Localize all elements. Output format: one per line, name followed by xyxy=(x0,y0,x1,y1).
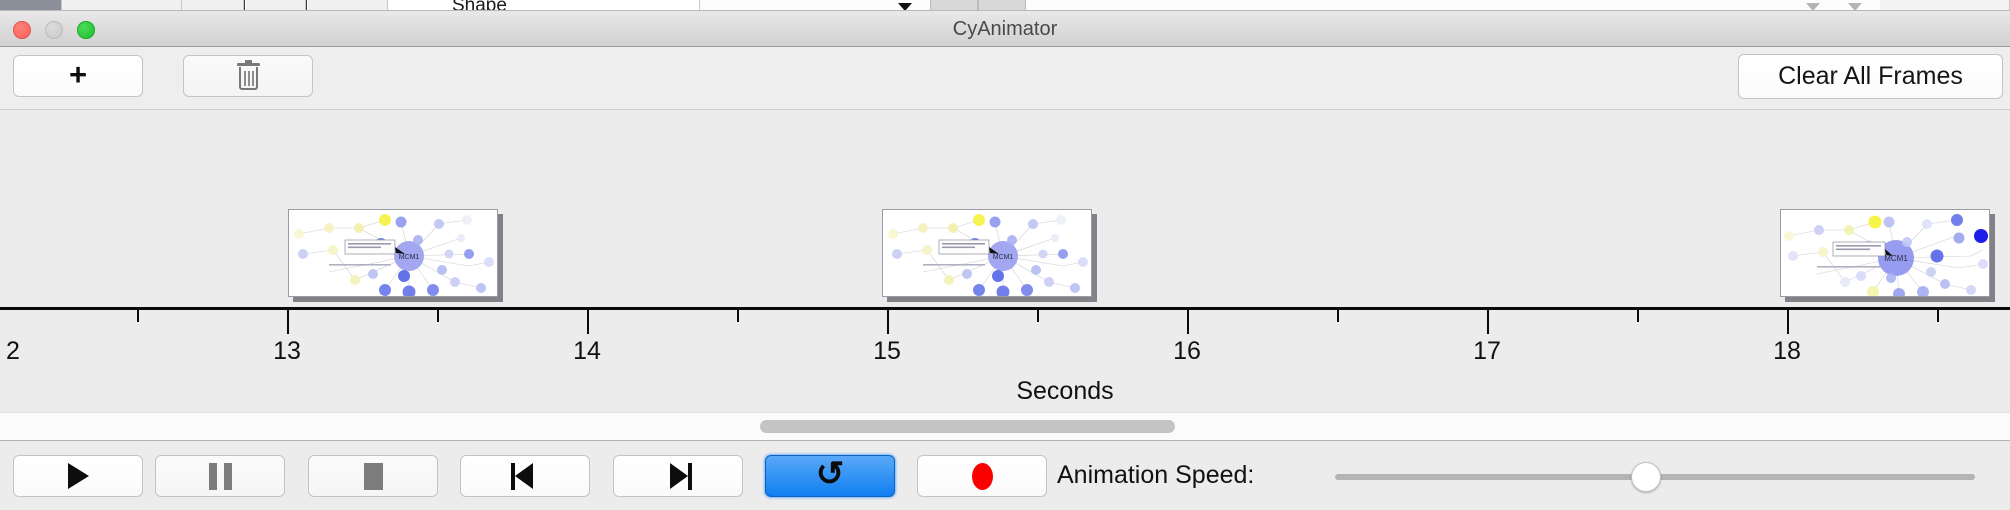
axis-minor-tick xyxy=(137,310,139,322)
timeline-frame-thumbnail[interactable]: MCM1 xyxy=(882,209,1092,297)
bg-tab xyxy=(978,0,1026,11)
axis-major-tick xyxy=(1787,310,1789,334)
scrollbar-thumb[interactable] xyxy=(760,420,1175,433)
bg-segment xyxy=(1880,0,2010,11)
delete-frame-button[interactable] xyxy=(183,55,313,97)
animation-speed-label: Animation Speed: xyxy=(1057,461,1254,490)
pause-button[interactable] xyxy=(155,455,285,497)
bg-segment xyxy=(390,0,700,11)
record-button[interactable] xyxy=(917,455,1047,497)
axis-tick-label: 2 xyxy=(6,337,20,366)
clear-all-frames-button[interactable]: Clear All Frames xyxy=(1738,54,2003,99)
background-application-strip: Shape xyxy=(0,0,2010,11)
timeline-frame-thumbnail[interactable]: MCM1 xyxy=(1780,209,1990,297)
stop-button[interactable] xyxy=(308,455,438,497)
bg-segment-dark xyxy=(0,0,62,11)
clear-all-frames-label: Clear All Frames xyxy=(1778,62,1963,91)
traffic-light-group xyxy=(13,21,95,39)
axis-tick-label: 17 xyxy=(1473,337,1501,366)
timeline-frame-thumbnail[interactable]: MCM1 xyxy=(288,209,498,297)
axis-title-text: Seconds xyxy=(1016,377,1113,405)
window-title: CyAnimator xyxy=(0,11,2010,47)
frame-node-label: MCM1 xyxy=(399,254,420,261)
trash-icon xyxy=(237,63,260,90)
skip-forward-icon xyxy=(664,463,692,490)
play-icon xyxy=(68,463,89,489)
loop-button[interactable]: ↺ xyxy=(765,455,895,497)
axis-minor-tick xyxy=(437,310,439,322)
axis-tick-label: 14 xyxy=(573,337,601,366)
next-frame-button[interactable] xyxy=(613,455,743,497)
window-titlebar[interactable]: CyAnimator xyxy=(0,11,2010,47)
axis-title: Seconds xyxy=(0,377,2010,406)
axis-minor-tick xyxy=(1937,310,1939,322)
minimize-button-icon[interactable] xyxy=(45,21,63,39)
network-graph-preview: MCM1 xyxy=(1781,210,1990,297)
axis-minor-tick xyxy=(1337,310,1339,322)
bg-arrow-icon xyxy=(1848,3,1862,11)
frame-node-label: MCM1 xyxy=(1884,254,1908,263)
bg-dropdown-arrow-icon xyxy=(898,3,912,11)
timeline-axis xyxy=(0,307,2010,310)
bg-segment xyxy=(308,0,388,11)
play-button[interactable] xyxy=(13,455,143,497)
axis-major-tick xyxy=(287,310,289,334)
frame-node-label: MCM1 xyxy=(993,254,1014,261)
axis-major-tick xyxy=(1487,310,1489,334)
pause-icon xyxy=(209,463,232,490)
bg-segment xyxy=(182,0,244,11)
bg-segment xyxy=(246,0,306,11)
axis-minor-tick xyxy=(1037,310,1039,322)
add-frame-button[interactable]: + xyxy=(13,55,143,97)
loop-icon: ↺ xyxy=(816,457,845,491)
record-icon xyxy=(972,463,993,490)
bg-segment xyxy=(1026,0,1806,11)
bg-tab-label: Shape xyxy=(452,0,507,11)
bg-segment xyxy=(62,0,182,11)
bg-arrow-icon xyxy=(1806,3,1820,11)
close-button-icon[interactable] xyxy=(13,21,31,39)
axis-major-tick xyxy=(887,310,889,334)
axis-minor-tick xyxy=(737,310,739,322)
maximize-button-icon[interactable] xyxy=(77,21,95,39)
stop-icon xyxy=(364,463,383,490)
axis-major-tick xyxy=(1187,310,1189,334)
network-graph-preview: MCM1 xyxy=(289,210,498,297)
axis-major-tick xyxy=(587,310,589,334)
axis-tick-label: 13 xyxy=(273,337,301,366)
skip-back-icon xyxy=(511,463,539,490)
axis-tick-label: 15 xyxy=(873,337,901,366)
network-graph-preview: MCM1 xyxy=(883,210,1092,297)
bg-tab xyxy=(930,0,978,11)
animation-speed-slider-thumb[interactable] xyxy=(1631,462,1661,492)
previous-frame-button[interactable] xyxy=(460,455,590,497)
axis-tick-label: 16 xyxy=(1173,337,1201,366)
plus-icon: + xyxy=(69,59,87,90)
axis-tick-label: 18 xyxy=(1773,337,1801,366)
axis-minor-tick xyxy=(1637,310,1639,322)
